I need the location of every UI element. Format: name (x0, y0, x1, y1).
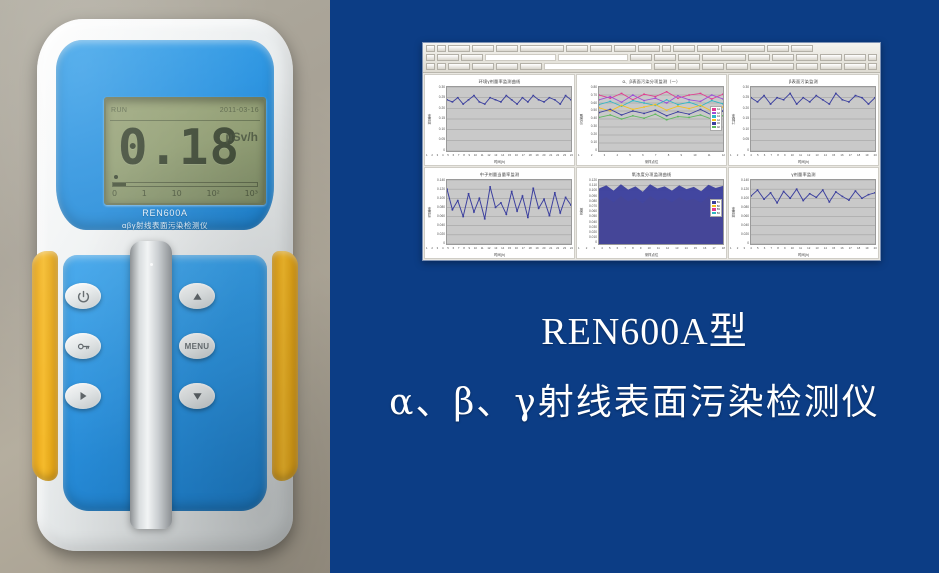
chart-point-marker (559, 103, 561, 104)
chart-point-marker (822, 189, 824, 190)
chart-line-series (599, 95, 723, 103)
chart-point-marker (770, 103, 772, 104)
chart-point-marker (688, 99, 690, 100)
toolbar-cell[interactable] (820, 54, 842, 61)
chart-point-marker (473, 211, 475, 212)
chart-point-marker (599, 99, 600, 100)
chart-point-marker (802, 200, 804, 201)
chart-point-marker (522, 97, 524, 98)
x-tick: 4 (616, 153, 618, 157)
chart-point-marker (751, 97, 752, 98)
chart-point-marker (677, 105, 679, 106)
chart-y-axis-label: 污染值 (578, 114, 584, 125)
y-tick: 0.020 (584, 231, 597, 234)
x-tick: 14 (501, 246, 504, 250)
toolbar-cell[interactable] (791, 45, 813, 52)
down-button[interactable] (179, 383, 215, 409)
x-tick: 4 (442, 153, 444, 157)
chart-point-marker (700, 109, 702, 110)
chart-plot-area (446, 86, 572, 152)
chart-point-marker (815, 197, 817, 198)
x-tick: 4 (750, 246, 752, 250)
chart-point-marker (711, 94, 713, 95)
chart-point-marker (457, 200, 459, 201)
chart-point-marker (815, 95, 817, 96)
x-tick: 19 (865, 153, 868, 157)
x-tick: 18 (529, 246, 532, 250)
x-tick: 10 (693, 153, 696, 157)
chart-point-marker (457, 97, 459, 98)
chart-point-marker (688, 117, 690, 118)
toolbar-cell[interactable] (868, 54, 877, 61)
title-block: REN600A型 α、β、γ射线表面污染检测仪 (330, 300, 939, 500)
x-tick: 23 (563, 153, 566, 157)
chart-point-marker (861, 198, 863, 199)
x-tick: 1 (578, 246, 580, 250)
x-tick: 8 (632, 246, 634, 250)
chart-point-marker (489, 97, 491, 98)
toolbar-cell[interactable] (654, 63, 676, 70)
toolbar-cell[interactable] (796, 63, 818, 70)
chart-point-marker (484, 218, 486, 219)
y-tick: 0.080 (736, 206, 749, 209)
lcd-indicator-dot (114, 175, 118, 179)
x-tick: 18 (722, 246, 725, 250)
x-tick: 5 (447, 246, 449, 250)
chart-point-marker (538, 99, 540, 100)
x-tick: 24 (570, 153, 573, 157)
chart-point-marker (570, 99, 571, 100)
x-tick: 20 (874, 246, 877, 250)
lcd-scale-tick: 1 (142, 189, 147, 198)
x-tick: 11 (481, 246, 484, 250)
x-tick: 9 (640, 246, 642, 250)
dashboard-chart-grid: 环境γ剂量率监测曲线剂量率0.300.250.200.150.100.05012… (423, 73, 880, 260)
toolbar-cell[interactable] (767, 45, 789, 52)
chart-point-marker (688, 94, 690, 95)
chart-point-marker (447, 188, 448, 189)
y-tick: 0.060 (432, 215, 445, 218)
chart-point-marker (783, 99, 785, 100)
chart-panel[interactable]: 氡浓度分项监测曲线浓度0.1200.1100.1000.0900.0800.07… (576, 167, 727, 259)
lcd-scale-tick: 10² (206, 189, 219, 198)
x-tick: 3 (437, 153, 439, 157)
y-tick: 0.20 (432, 107, 445, 110)
play-icon (77, 390, 89, 402)
chart-point-marker (609, 114, 611, 115)
toolbar-cell[interactable] (673, 45, 695, 52)
y-tick: 0 (584, 149, 597, 152)
legend-swatch (712, 208, 716, 211)
chart-point-marker (527, 217, 529, 218)
chart-point-marker (763, 95, 765, 96)
y-tick: 0 (432, 149, 445, 152)
toolbar-cell[interactable] (721, 45, 765, 52)
chart-point-marker (757, 101, 759, 102)
device-head-panel: RUN 2011-03-16 0.18 μSv/h 011010²10³ REN… (56, 40, 274, 230)
chart-point-marker (549, 215, 551, 216)
chart-point-marker (666, 102, 668, 103)
triangle-down-icon (191, 391, 204, 402)
chart-point-marker (643, 113, 645, 114)
chart-point-marker (848, 199, 850, 200)
x-tick: 8 (668, 153, 670, 157)
y-tick: 0.25 (736, 96, 749, 99)
toolbar-cell[interactable] (702, 63, 724, 70)
y-tick: 0.30 (432, 86, 445, 89)
chart-point-marker (538, 208, 540, 209)
y-tick: 0.10 (584, 141, 597, 144)
x-tick: 7 (771, 246, 773, 250)
chart-point-marker (473, 95, 475, 96)
chart-y-ticks: 0.300.250.200.150.100.050 (736, 86, 750, 152)
y-tick: 0.010 (584, 236, 597, 239)
y-tick: 0.050 (584, 215, 597, 218)
chart-point-marker (828, 103, 830, 104)
y-tick: 0.110 (584, 184, 597, 187)
chart-point-marker (543, 101, 545, 102)
toolbar-cell[interactable] (678, 63, 700, 70)
chart-point-marker (505, 214, 507, 215)
chart-panel[interactable]: α、β表面污染分项监测（一）污染值0.800.700.600.500.400.3… (576, 74, 727, 166)
y-tick: 0 (584, 241, 597, 244)
chart-point-marker (609, 97, 611, 98)
y-tick: 0.120 (584, 179, 597, 182)
toolbar-cell[interactable] (726, 63, 748, 70)
toolbar-cell[interactable] (485, 54, 556, 61)
x-tick: 5 (447, 153, 449, 157)
chart-point-marker (722, 110, 723, 111)
chart-point-marker (500, 202, 502, 203)
play-button[interactable] (65, 383, 101, 409)
y-tick: 0 (736, 149, 749, 152)
x-tick: 14 (501, 153, 504, 157)
chart-point-marker (570, 204, 571, 205)
chart-point-marker (666, 91, 668, 92)
x-tick: 13 (815, 153, 818, 157)
x-tick: 7 (655, 153, 657, 157)
x-tick: 2 (737, 246, 739, 250)
chart-line-series (599, 92, 723, 100)
chart-plot-area (750, 179, 876, 245)
chart-point-marker (677, 95, 679, 96)
toolbar-cell[interactable] (678, 54, 700, 61)
toolbar-cell[interactable] (844, 63, 866, 70)
chart-title: 中子剂量当量率监测 (425, 168, 574, 179)
chart-point-marker (599, 94, 600, 95)
chart-point-marker (654, 109, 656, 110)
x-tick: 19 (865, 246, 868, 250)
x-tick: 10 (474, 153, 477, 157)
toolbar-cell[interactable] (437, 63, 446, 70)
x-tick: 24 (570, 246, 573, 250)
chart-point-marker (677, 111, 679, 112)
toolbar-cell[interactable] (426, 54, 435, 61)
grip-left (32, 251, 58, 481)
chart-y-axis-label: 剂量率 (426, 114, 432, 125)
chart-point-marker (632, 109, 634, 110)
toolbar-cell[interactable] (544, 63, 652, 70)
up-button[interactable] (179, 283, 215, 309)
y-tick: 0 (432, 242, 445, 245)
key-icon (76, 340, 91, 353)
chart-point-marker (776, 97, 778, 98)
x-tick: 14 (824, 153, 827, 157)
x-tick: 22 (556, 246, 559, 250)
toolbar-cell[interactable] (448, 63, 470, 70)
x-tick: 10 (648, 246, 651, 250)
toolbar-cell[interactable] (820, 63, 842, 70)
y-tick: 0.40 (584, 117, 597, 120)
x-tick: 21 (549, 246, 552, 250)
x-tick: 1 (426, 153, 428, 157)
y-tick: 0.020 (736, 233, 749, 236)
toolbar-cell[interactable] (472, 45, 494, 52)
x-tick: 10 (791, 246, 794, 250)
key-button[interactable] (65, 333, 101, 359)
x-tick: 9 (469, 246, 471, 250)
chart-point-marker (484, 103, 486, 104)
toolbar-cell[interactable] (426, 63, 435, 70)
chart-point-marker (599, 107, 600, 108)
chart-point-marker (700, 93, 702, 94)
chart-point-marker (495, 99, 497, 100)
chart-point-marker (654, 96, 656, 97)
chart-point-marker (527, 101, 529, 102)
toolbar-cell[interactable] (558, 54, 629, 61)
chart-panel[interactable]: 环境γ剂量率监测曲线剂量率0.300.250.200.150.100.05012… (424, 74, 575, 166)
chart-y-ticks: 0.800.700.600.500.400.300.200.100 (584, 86, 598, 152)
chart-point-marker (609, 110, 611, 111)
chart-point-marker (848, 101, 850, 102)
toolbar-cell[interactable] (496, 45, 518, 52)
chart-x-axis-label: 采样点位 (577, 159, 726, 165)
x-tick: 17 (849, 246, 852, 250)
y-tick: 0.040 (736, 224, 749, 227)
chart-point-marker (688, 113, 690, 114)
chart-point-marker (855, 190, 857, 191)
power-button[interactable] (65, 283, 101, 309)
y-tick: 0.040 (584, 221, 597, 224)
toolbar-cell[interactable] (496, 63, 518, 70)
chart-point-marker (654, 113, 656, 114)
y-tick: 0.100 (432, 197, 445, 200)
x-tick: 10 (474, 246, 477, 250)
chart-point-marker (643, 106, 645, 107)
x-tick: 15 (508, 153, 511, 157)
chart-title: 环境γ剂量率监测曲线 (425, 75, 574, 86)
legend-swatch (712, 205, 716, 208)
x-tick: 11 (799, 246, 802, 250)
chart-point-marker (654, 104, 656, 105)
x-tick: 4 (601, 246, 603, 250)
chart-point-marker (643, 102, 645, 103)
chart-legend: B1B2B3B4 (710, 199, 722, 217)
toolbar-cell[interactable] (448, 45, 470, 52)
chart-y-ticks: 0.1400.1200.1000.0800.0600.0400.0200 (432, 179, 446, 245)
toolbar-cell[interactable] (520, 63, 542, 70)
y-tick: 0.080 (584, 200, 597, 203)
x-tick: 6 (642, 153, 644, 157)
x-tick: 9 (784, 246, 786, 250)
toolbar-cell[interactable] (426, 45, 435, 52)
toolbar-cell[interactable] (566, 45, 588, 52)
toolbar-cell[interactable] (461, 54, 483, 61)
x-tick: 9 (784, 153, 786, 157)
chart-legend: A1A2A3A4A5A6 (710, 106, 722, 131)
chart-point-marker (783, 191, 785, 192)
x-tick: 5 (757, 153, 759, 157)
device-body: RUN 2011-03-16 0.18 μSv/h 011010²10³ REN… (37, 19, 293, 551)
x-tick: 15 (832, 246, 835, 250)
lcd-scale-tick: 10³ (245, 189, 258, 198)
chart-point-marker (495, 207, 497, 208)
chart-point-marker (511, 99, 513, 100)
toolbar-cell[interactable] (638, 45, 660, 52)
chart-point-marker (855, 95, 857, 96)
toolbar-cell[interactable] (590, 45, 612, 52)
toolbar-cell[interactable] (750, 63, 794, 70)
x-tick: 13 (494, 153, 497, 157)
chart-line-series (447, 96, 571, 105)
toolbar-cell[interactable] (520, 45, 564, 52)
x-tick: 14 (685, 246, 688, 250)
legend-item: B4 (712, 212, 720, 215)
chart-point-marker (532, 95, 534, 96)
chart-point-marker (621, 118, 623, 119)
chart-point-marker (609, 101, 611, 102)
chart-point-marker (565, 95, 567, 96)
chart-point-marker (565, 197, 567, 198)
device-model-label: REN600A (56, 208, 274, 218)
y-tick: 0.15 (432, 117, 445, 120)
lcd-scale-tick: 10 (172, 189, 182, 198)
chart-x-axis-label: 时间(h) (729, 159, 878, 165)
chart-point-marker (874, 192, 875, 193)
toolbar-cell[interactable] (748, 54, 770, 61)
device-description-label: αβγ射线表面污染检测仪 (56, 220, 274, 231)
chart-point-marker (868, 194, 870, 195)
toolbar-row (426, 54, 877, 62)
chart-point-marker (796, 188, 798, 189)
toolbar-cell[interactable] (437, 54, 459, 61)
chart-point-marker (677, 116, 679, 117)
x-tick: 6 (764, 246, 766, 250)
product-model-title: REN600A型 (330, 300, 939, 355)
y-tick: 0.30 (584, 125, 597, 128)
legend-swatch (712, 119, 716, 122)
y-tick: 0.120 (736, 188, 749, 191)
toolbar-cell[interactable] (472, 63, 494, 70)
x-tick: 2 (586, 246, 588, 250)
legend-label: A6 (717, 126, 720, 129)
chart-point-marker (632, 100, 634, 101)
toolbar-cell[interactable] (437, 45, 446, 52)
toolbar-cell[interactable] (697, 45, 719, 52)
chart-point-marker (677, 97, 679, 98)
chart-point-marker (796, 103, 798, 104)
y-tick: 0 (736, 242, 749, 245)
x-tick: 12 (807, 153, 810, 157)
y-tick: 0.060 (584, 210, 597, 213)
y-tick: 0.50 (584, 109, 597, 112)
toolbar-row (426, 63, 877, 71)
chart-point-marker (511, 191, 513, 192)
x-tick: 3 (604, 153, 606, 157)
software-dashboard-screenshot: 环境γ剂量率监测曲线剂量率0.300.250.200.150.100.05012… (422, 42, 881, 261)
chart-point-marker (452, 209, 454, 210)
chart-body: 剂量率0.1400.1200.1000.0800.0600.0400.0200 (729, 179, 878, 246)
hand-strap (130, 241, 172, 529)
chart-panel[interactable]: β表面污染监测计数率0.300.250.200.150.100.05012345… (728, 74, 879, 166)
x-tick: 17 (522, 246, 525, 250)
y-tick: 0.25 (432, 96, 445, 99)
chart-point-marker (543, 198, 545, 199)
chart-panel[interactable]: 中子剂量当量率监测当量率0.1400.1200.1000.0800.0600.0… (424, 167, 575, 259)
x-tick: 12 (807, 246, 810, 250)
x-tick: 9 (681, 153, 683, 157)
x-tick: 14 (824, 246, 827, 250)
x-tick: 2 (431, 153, 433, 157)
chart-point-marker (868, 103, 870, 104)
legend-swatch (712, 108, 716, 111)
chart-point-marker (621, 93, 623, 94)
chart-point-marker (666, 119, 668, 120)
toolbar-cell[interactable] (702, 54, 746, 61)
x-tick: 12 (666, 246, 669, 250)
chart-line-series (447, 187, 571, 219)
x-tick: 16 (840, 153, 843, 157)
x-tick: 16 (515, 153, 518, 157)
legend-label: B4 (717, 212, 720, 215)
chart-point-marker (516, 210, 518, 211)
x-tick: 8 (777, 153, 779, 157)
x-tick: 20 (874, 153, 877, 157)
x-tick: 7 (458, 153, 460, 157)
toolbar-cell[interactable] (844, 54, 866, 61)
chart-point-marker (861, 97, 863, 98)
legend-swatch (712, 115, 716, 118)
x-tick: 10 (791, 153, 794, 157)
toolbar-cell[interactable] (630, 54, 652, 61)
chart-point-marker (822, 99, 824, 100)
x-tick: 17 (712, 246, 715, 250)
chart-point-marker (632, 115, 634, 116)
y-tick: 0.05 (736, 138, 749, 141)
chart-point-marker (722, 93, 723, 94)
chart-point-marker (621, 105, 623, 106)
x-tick: 18 (529, 153, 532, 157)
toolbar-cell[interactable] (868, 63, 877, 70)
x-tick: 6 (617, 246, 619, 250)
chart-area-series (599, 184, 723, 244)
toolbar-cell[interactable] (662, 45, 671, 52)
chart-point-marker (874, 97, 875, 98)
toolbar-cell[interactable] (796, 54, 818, 61)
chart-y-axis-label: 剂量率 (730, 207, 736, 218)
toolbar-cell[interactable] (614, 45, 636, 52)
toolbar-cell[interactable] (772, 54, 794, 61)
product-description-title: α、β、γ射线表面污染检测仪 (330, 373, 939, 425)
triangle-up-icon (191, 291, 204, 302)
x-tick: 11 (799, 153, 802, 157)
x-tick: 13 (815, 246, 818, 250)
chart-panel[interactable]: γ剂量率监测剂量率0.1400.1200.1000.0800.0600.0400… (728, 167, 879, 259)
menu-button[interactable]: MENU (179, 333, 215, 359)
chart-point-marker (700, 114, 702, 115)
chart-point-marker (842, 196, 844, 197)
toolbar-cell[interactable] (654, 54, 676, 61)
